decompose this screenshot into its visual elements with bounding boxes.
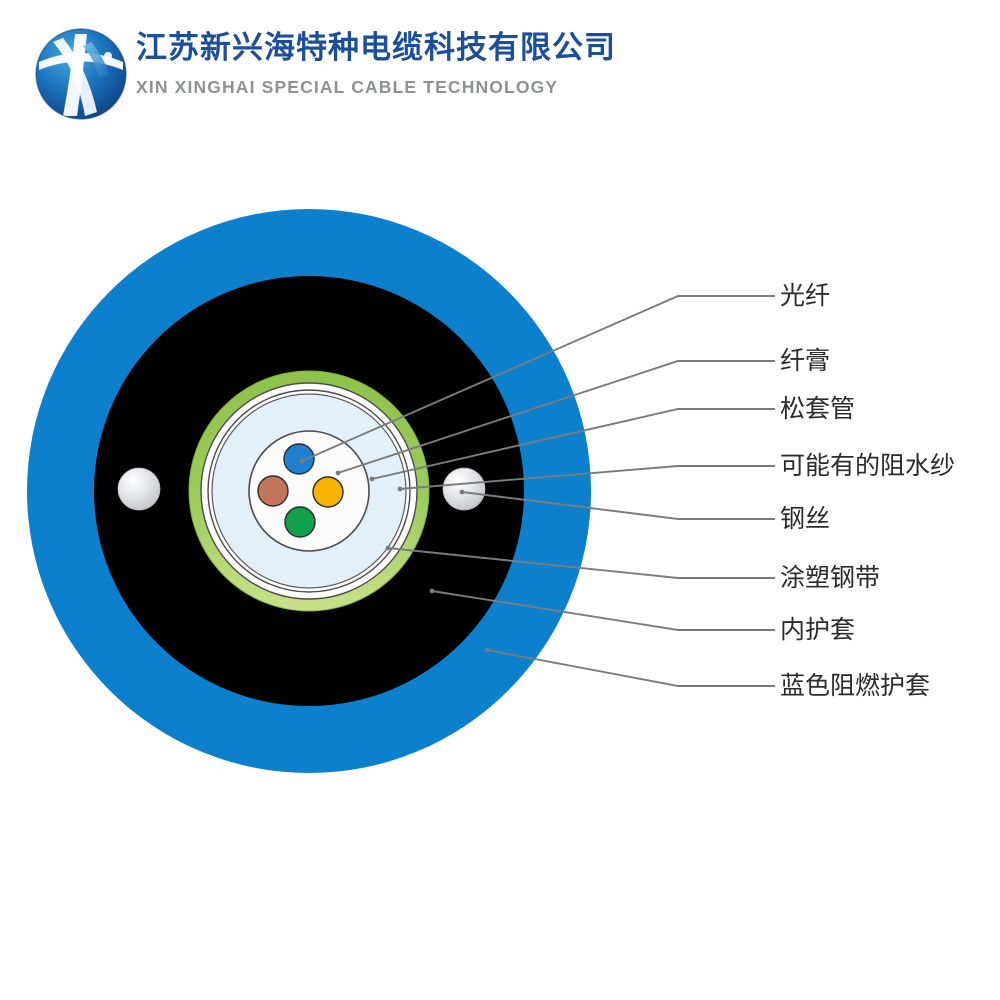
- callout-label-fiber-gel: 纤膏: [780, 346, 830, 375]
- cable-cross-section-diagram: 光纤 纤膏 松套管 可能有的阻水纱 钢丝 涂塑钢带 内护套 蓝色阻燃护套: [0, 0, 1000, 1000]
- origin-dot-blue-jacket: [485, 648, 490, 653]
- origin-dot-inner-sheath: [430, 589, 435, 594]
- diagram-canvas: 光纤 纤膏 松套管 可能有的阻水纱 钢丝 涂塑钢带 内护套 蓝色阻燃护套: [0, 0, 1000, 1000]
- callout-label-plastic-coated-tape: 涂塑钢带: [780, 563, 880, 592]
- steel-wire-left: [118, 468, 160, 510]
- origin-dot-optical-fiber: [300, 459, 305, 464]
- optical-fiber-yellow: [313, 477, 343, 507]
- origin-dot-fiber-gel: [336, 471, 341, 476]
- origin-dot-water-blocking-yarn: [398, 487, 403, 492]
- callout-label-loose-tube: 松套管: [780, 394, 855, 423]
- callout-label-blue-jacket: 蓝色阻燃护套: [780, 671, 930, 700]
- callout-label-water-blocking-yarn: 可能有的阻水纱: [780, 451, 955, 480]
- optical-fiber-brown: [258, 476, 288, 506]
- optical-fiber-blue: [284, 444, 314, 474]
- steel-wire-right: [443, 468, 485, 510]
- origin-dot-plastic-coated-tape: [386, 546, 391, 551]
- callout-label-optical-fiber: 光纤: [780, 281, 830, 310]
- callout-label-steel-wire: 钢丝: [780, 504, 830, 533]
- origin-dot-loose-tube: [370, 477, 375, 482]
- callout-label-inner-sheath: 内护套: [780, 615, 855, 644]
- optical-fiber-green: [285, 507, 315, 537]
- origin-dot-steel-wire: [460, 490, 465, 495]
